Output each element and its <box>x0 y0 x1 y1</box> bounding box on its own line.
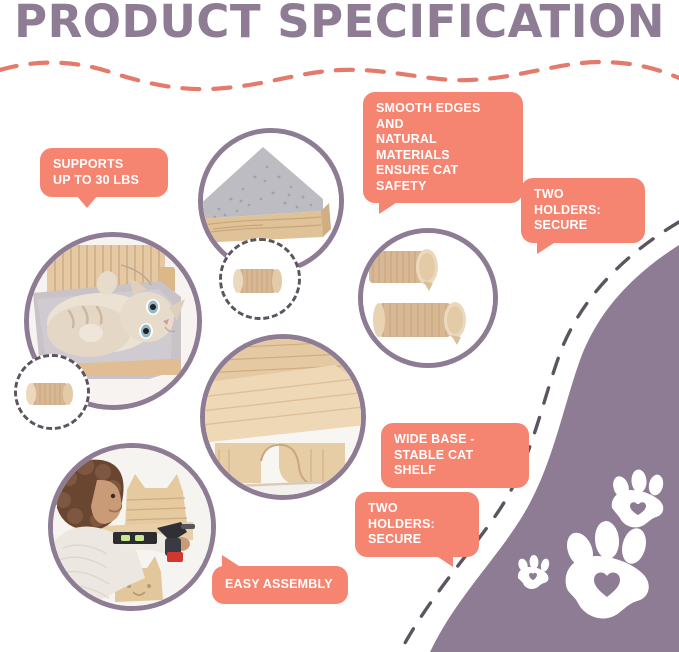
callout-supports-weight[interactable]: SUPPORTS UP TO 30 LBS <box>40 148 168 197</box>
callout-two-holders-top-line-2: SECURE <box>534 218 632 234</box>
photo-wooden-base-detail <box>200 334 366 500</box>
paw-print-medium-heart <box>630 502 646 515</box>
callout-tail-icon <box>435 555 453 567</box>
inset-sisal-post-left <box>14 354 90 430</box>
photo-sisal-posts <box>358 228 498 368</box>
callout-tail-icon <box>537 241 557 254</box>
callout-supports-weight-line-2: UP TO 30 LBS <box>53 173 155 189</box>
callout-tail-icon <box>76 195 98 208</box>
product-specification-infographic: PRODUCT SPECIFICATION <box>0 0 679 652</box>
callout-two-holders-bottom-line-2: SECURE <box>368 532 466 548</box>
page-title: PRODUCT SPECIFICATION <box>0 0 679 48</box>
callout-wide-base-line-1: WIDE BASE - <box>394 432 516 448</box>
sisal-post-inset-left-image <box>17 357 87 427</box>
paw-print-large-heart <box>594 573 620 597</box>
callout-two-holders-top-line-1: TWO HOLDERS: <box>534 187 632 218</box>
paw-print-large <box>562 520 649 618</box>
callout-smooth-edges-line-1: SMOOTH EDGES AND <box>376 101 510 132</box>
callout-tail-icon <box>222 555 242 568</box>
sisal-post-inset-center-image <box>222 241 298 317</box>
photo-woman-installing <box>48 443 216 611</box>
callout-smooth-edges[interactable]: SMOOTH EDGES AND NATURAL MATERIALS ENSUR… <box>363 92 523 203</box>
coral-dashed-wave <box>0 62 679 89</box>
paw-print-medium <box>610 469 665 527</box>
callout-easy-assembly[interactable]: EASY ASSEMBLY <box>212 566 348 604</box>
wooden-base-image <box>205 339 361 495</box>
callout-wide-base-line-2: STABLE CAT SHELF <box>394 448 516 479</box>
paw-print-small <box>517 555 551 589</box>
callout-easy-assembly-line-1: EASY ASSEMBLY <box>225 577 335 593</box>
callout-two-holders-top[interactable]: TWO HOLDERS: SECURE <box>521 178 645 243</box>
callout-smooth-edges-line-3: ENSURE CAT SAFETY <box>376 163 510 194</box>
callout-two-holders-bottom[interactable]: TWO HOLDERS: SECURE <box>355 492 479 557</box>
callout-wide-base[interactable]: WIDE BASE - STABLE CAT SHELF <box>381 423 529 488</box>
inset-sisal-post-center <box>219 238 301 320</box>
paw-print-small-heart <box>529 573 537 580</box>
callout-supports-weight-line-1: SUPPORTS <box>53 157 155 173</box>
callout-tail-icon <box>379 201 399 214</box>
callout-smooth-edges-line-2: NATURAL MATERIALS <box>376 132 510 163</box>
sisal-posts-image <box>363 233 493 363</box>
woman-installing-image <box>53 448 211 606</box>
callout-two-holders-bottom-line-1: TWO HOLDERS: <box>368 501 466 532</box>
